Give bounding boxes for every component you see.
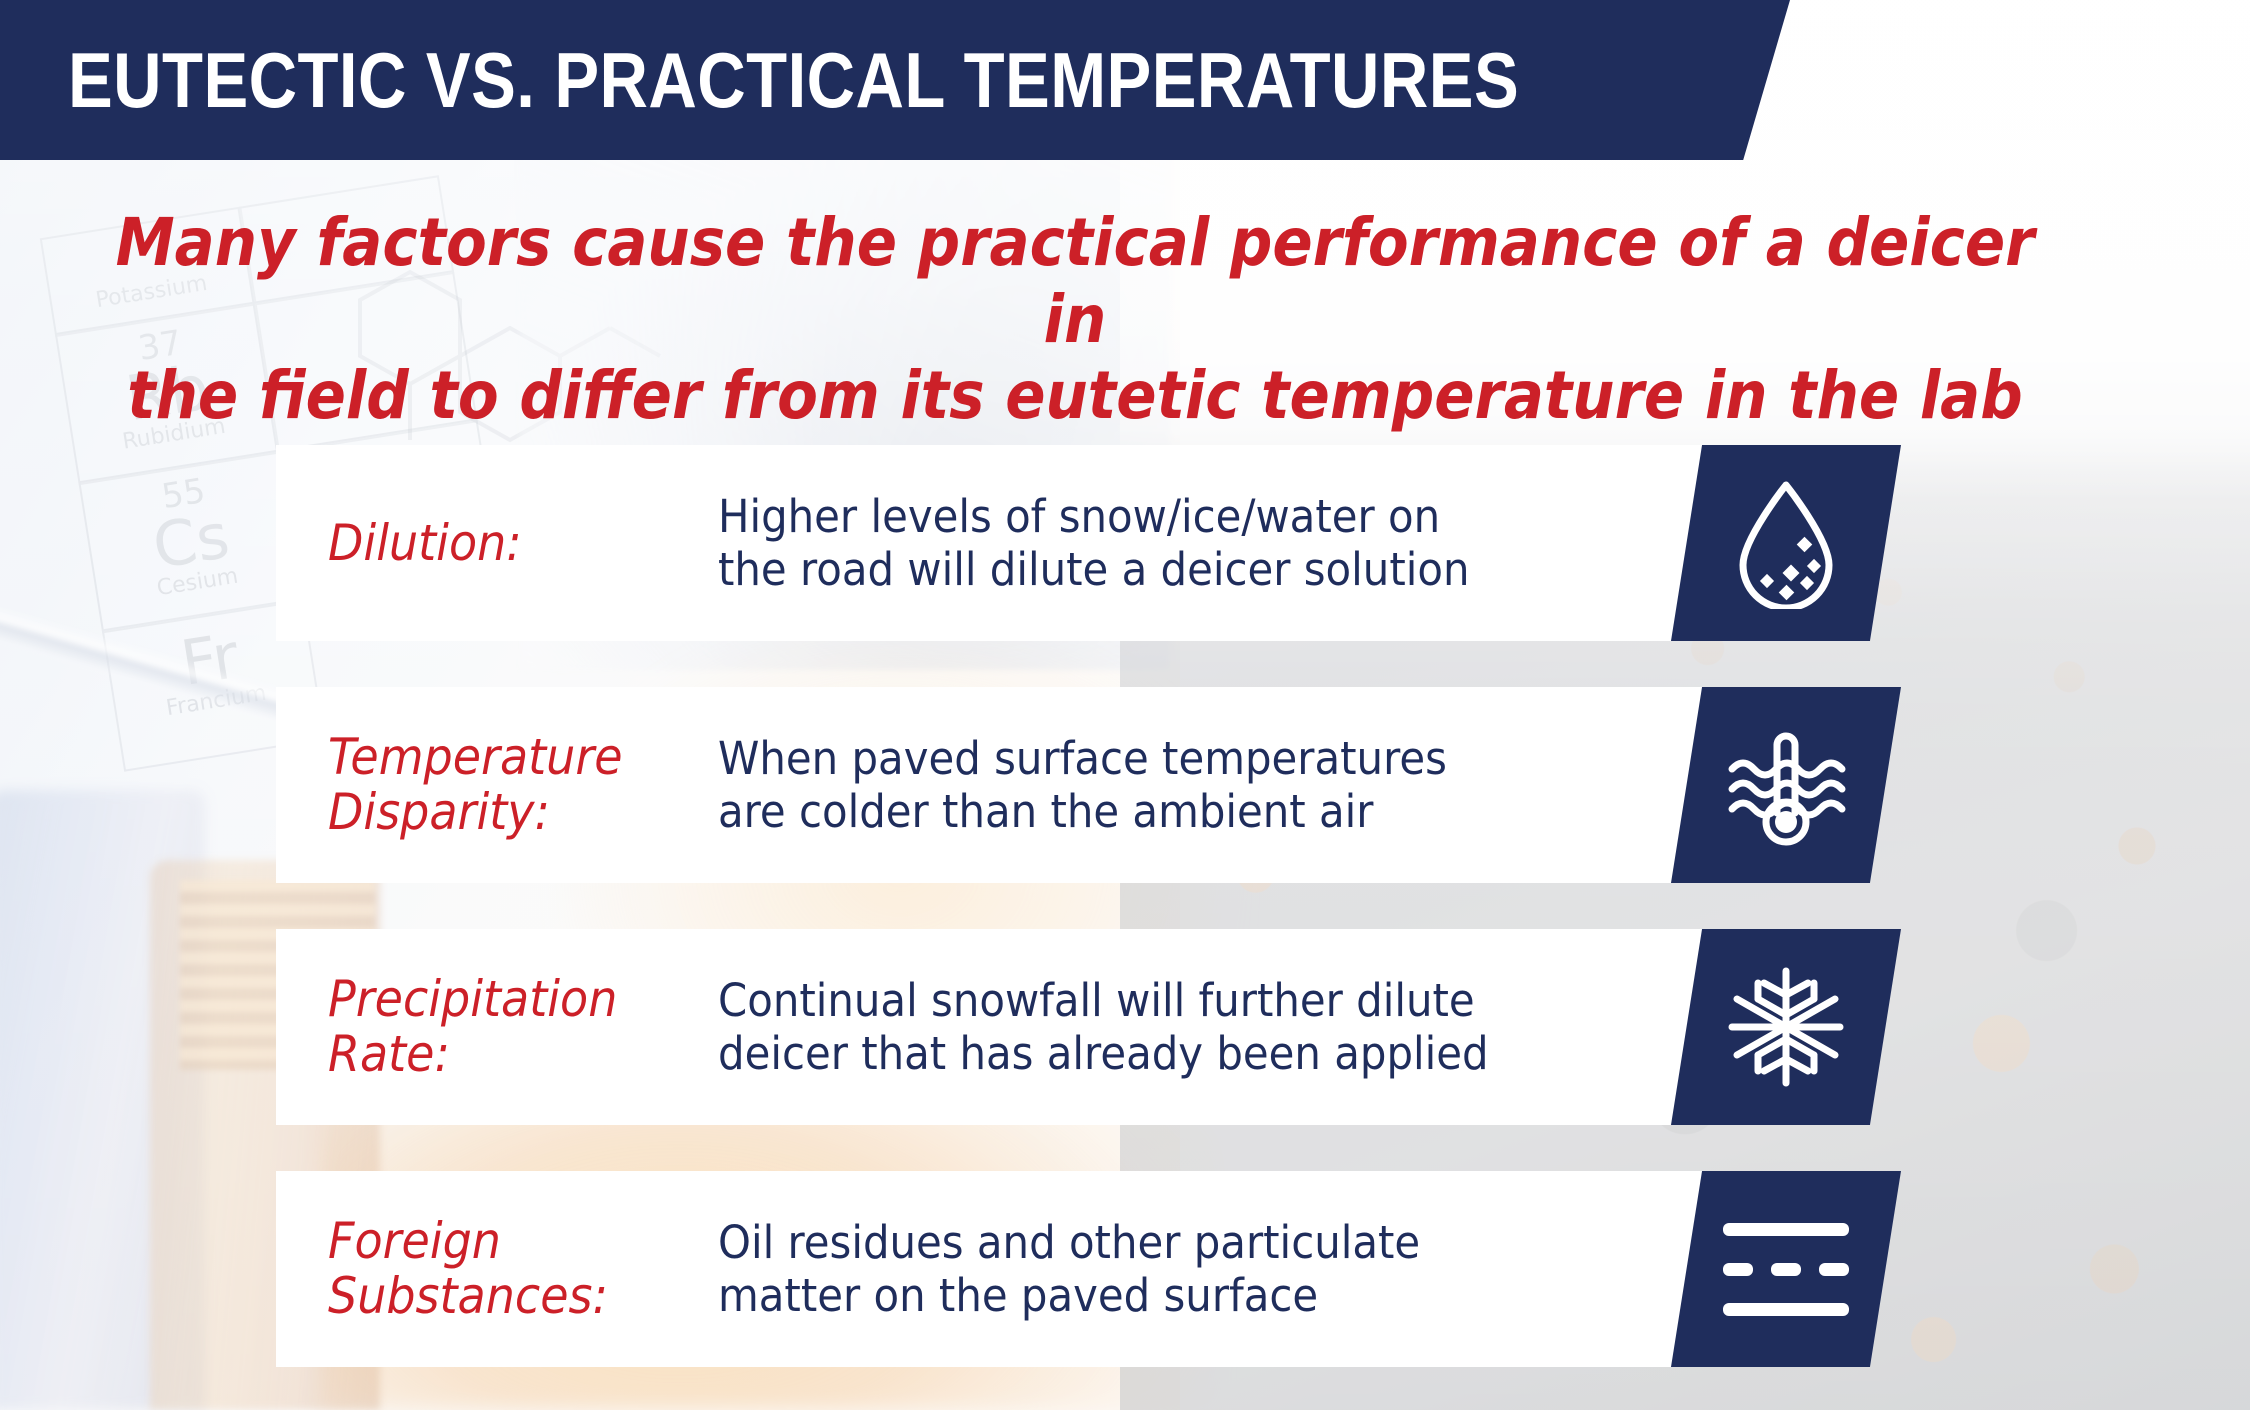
icon-panel-dilution: [1671, 445, 1901, 641]
factor-card: Foreign Substances: Oil residues and oth…: [276, 1171, 1756, 1367]
icon-panel-precipitation-rate: [1671, 929, 1901, 1125]
factor-label-line-2: Disparity:: [328, 783, 550, 841]
factor-label-line-1: Foreign: [328, 1212, 501, 1270]
factor-description-line-1: Oil residues and other particulate: [718, 1216, 1646, 1269]
factor-label-dilution: Dilution:: [328, 516, 687, 571]
factor-description-line-1: Higher levels of snow/ice/water on: [718, 490, 1646, 543]
factor-label-precipitation-rate: Precipitation Rate:: [328, 972, 687, 1082]
road-lines-icon: [1719, 1209, 1853, 1329]
icon-panel-temperature-disparity: [1671, 687, 1901, 883]
icon-panel-foreign-substances: [1671, 1171, 1901, 1367]
factor-description-dilution: Higher levels of snow/ice/water on the r…: [718, 490, 1683, 596]
factor-description-foreign-substances: Oil residues and other particulate matte…: [718, 1216, 1683, 1322]
factor-card: Temperature Disparity: When paved surfac…: [276, 687, 1756, 883]
list-item-precipitation-rate: Precipitation Rate: Continual snowfall w…: [276, 929, 1956, 1125]
factor-description-line-2: matter on the paved surface: [718, 1269, 1646, 1322]
factor-description-precipitation-rate: Continual snowfall will further dilute d…: [718, 974, 1683, 1080]
slide-canvas: Potassium 37 Rb Rubidium 55 Cs Cesium Fr…: [0, 0, 2250, 1410]
factor-label-line-2: Rate:: [328, 1025, 450, 1083]
factor-description-line-2: the road will dilute a deicer solution: [718, 543, 1646, 596]
factor-card: Dilution: Higher levels of snow/ice/wate…: [276, 445, 1756, 641]
factor-description-line-1: When paved surface temperatures: [718, 732, 1646, 785]
factor-description-line-2: are colder than the ambient air: [718, 785, 1646, 838]
thermometer-icon: [1718, 717, 1854, 853]
list-item-foreign-substances: Foreign Substances: Oil residues and oth…: [276, 1171, 1956, 1367]
factor-label-temperature-disparity: Temperature Disparity:: [328, 730, 687, 840]
factor-description-line-1: Continual snowfall will further dilute: [718, 974, 1646, 1027]
factor-description-temperature-disparity: When paved surface temperatures are cold…: [718, 732, 1683, 838]
factor-label-line-1: Precipitation: [328, 970, 617, 1028]
factor-label-foreign-substances: Foreign Substances:: [328, 1214, 687, 1324]
factor-list: Dilution: Higher levels of snow/ice/wate…: [0, 0, 2250, 1410]
list-item-dilution: Dilution: Higher levels of snow/ice/wate…: [276, 445, 1956, 641]
snowflake-icon: [1718, 959, 1854, 1095]
factor-label-line-1: Temperature: [328, 728, 623, 786]
list-item-temperature-disparity: Temperature Disparity: When paved surfac…: [276, 687, 1956, 883]
water-droplet-icon: [1727, 477, 1845, 609]
factor-label-line-1: Dilution:: [328, 514, 522, 572]
factor-label-line-2: Substances:: [328, 1267, 608, 1325]
factor-card: Precipitation Rate: Continual snowfall w…: [276, 929, 1756, 1125]
factor-description-line-2: deicer that has already been applied: [718, 1027, 1646, 1080]
